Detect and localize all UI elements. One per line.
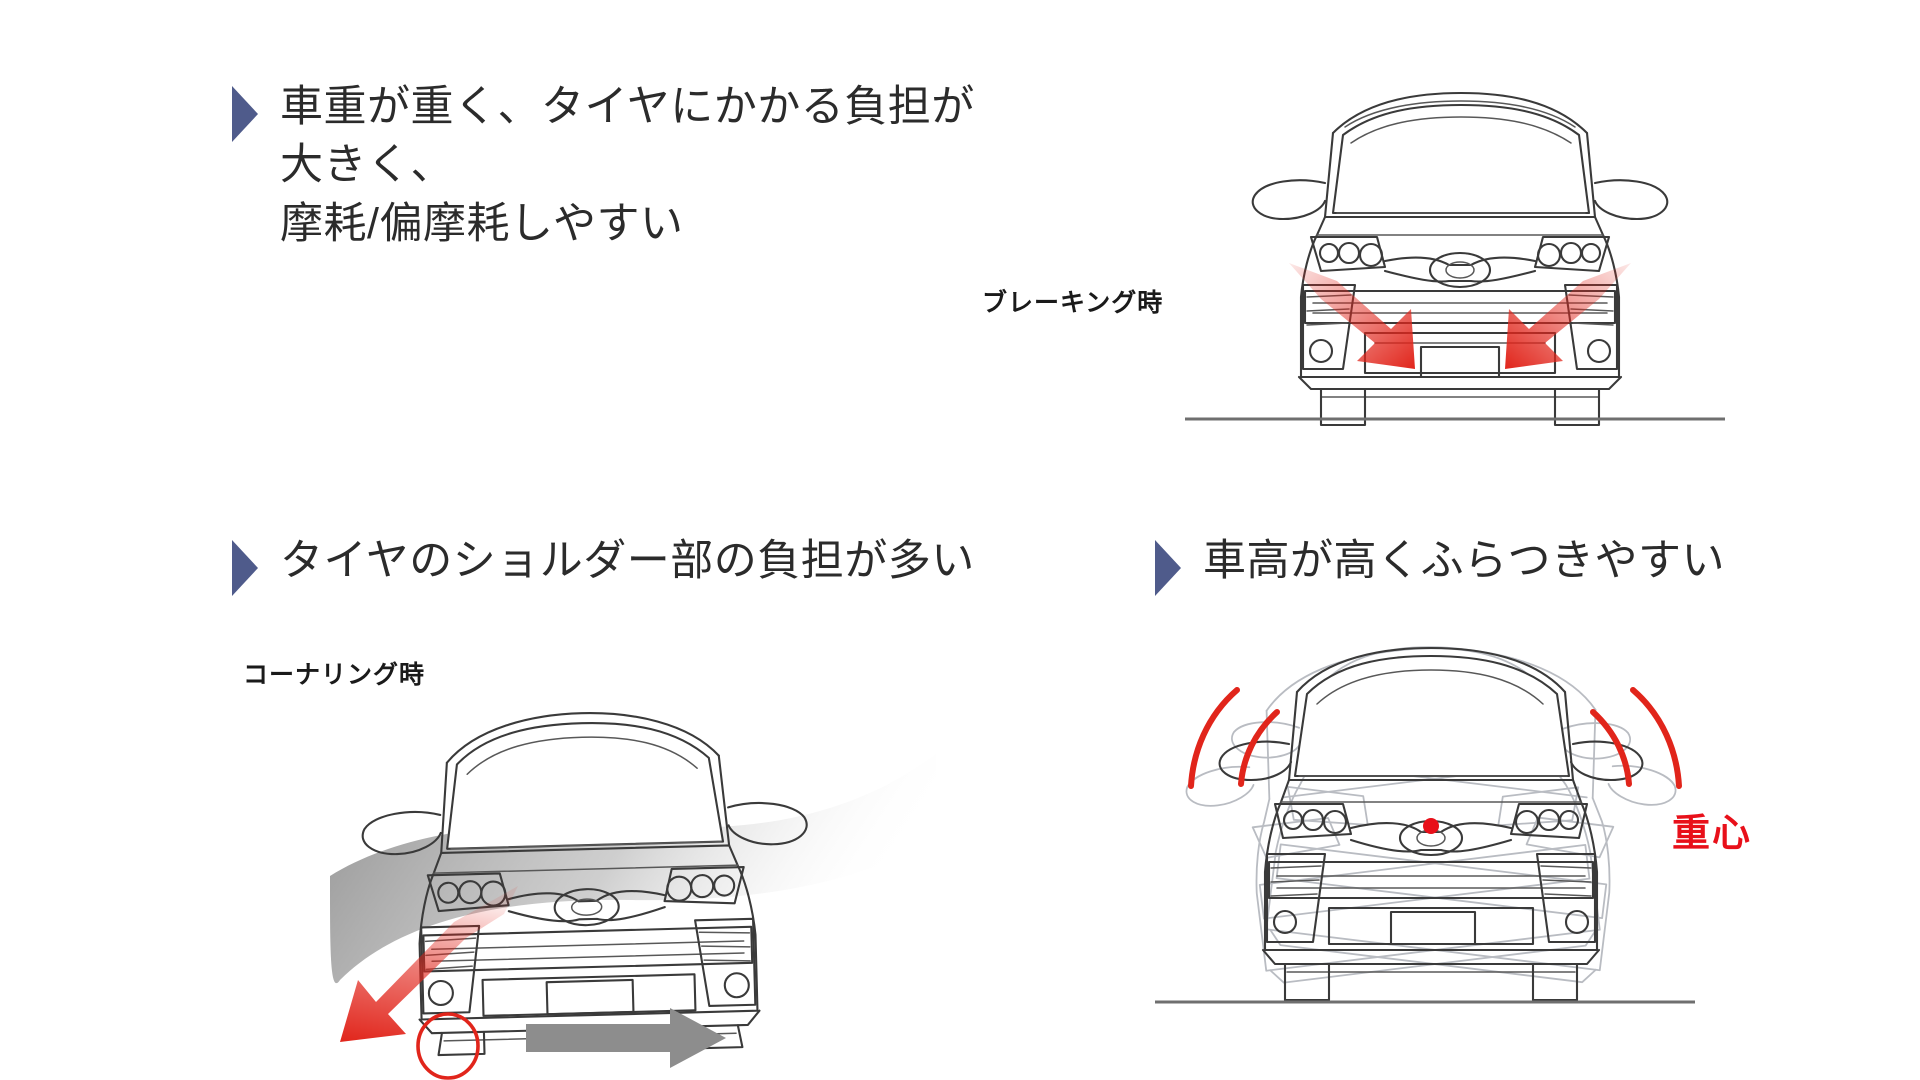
triangle-right-icon (232, 86, 258, 142)
red-load-arrow-icon (1289, 263, 1631, 369)
headline-bottom-right-text: 車高が高くふらつきやすい (1203, 532, 1725, 590)
slide-canvas: 車重が重く、タイヤにかかる負担が大きく、 摩耗/偏摩耗しやすい ブレーキング時 (0, 0, 1920, 1080)
red-circle-icon (418, 1014, 478, 1078)
headline-bottom-right: 車高が高くふらつきやすい (1155, 532, 1855, 596)
caption-braking: ブレーキング時 (982, 283, 1163, 319)
illustration-sway (1185, 620, 1685, 1010)
headline-top: 車重が重く、タイヤにかかる負担が大きく、 摩耗/偏摩耗しやすい (232, 78, 992, 253)
triangle-right-icon (1155, 540, 1181, 596)
illustration-braking (1225, 85, 1685, 425)
triangle-right-icon (232, 540, 258, 596)
red-center-of-gravity-dot-icon (1423, 818, 1439, 834)
headline-bottom-left: タイヤのショルダー部の負担が多い (232, 532, 992, 596)
illustration-cornering (330, 650, 950, 1050)
headline-bottom-left-text: タイヤのショルダー部の負担が多い (280, 532, 975, 590)
headline-top-text: 車重が重く、タイヤにかかる負担が大きく、 摩耗/偏摩耗しやすい (280, 78, 992, 253)
